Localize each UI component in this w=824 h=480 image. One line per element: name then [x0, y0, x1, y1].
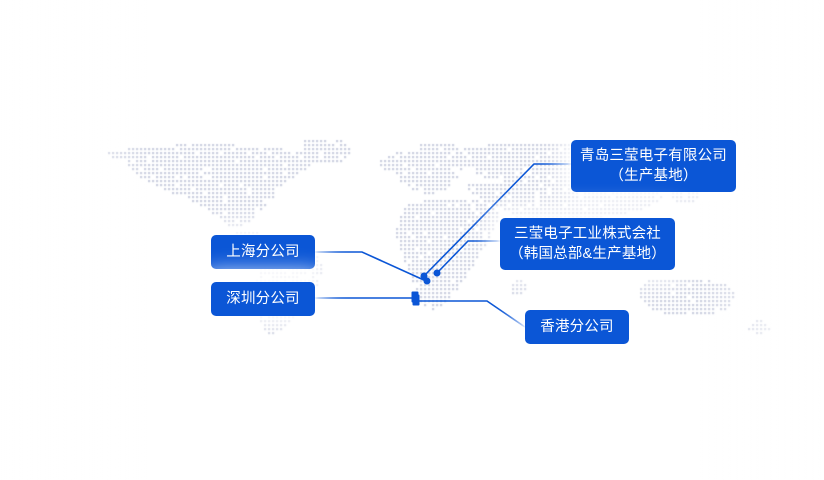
shanghai-connector	[315, 252, 426, 281]
hongkong-connector	[416, 301, 525, 327]
label-korea-line2: （韩国总部&生产基地）	[509, 244, 666, 264]
korea-connector	[437, 241, 500, 273]
connector-lines	[0, 0, 824, 480]
label-hongkong-branch[interactable]: 香港分公司	[525, 310, 629, 344]
label-shenzhen-line1: 深圳分公司	[226, 289, 300, 309]
label-shenzhen-branch[interactable]: 深圳分公司	[211, 282, 315, 316]
label-qingdao-factory[interactable]: 青岛三莹电子有限公司 （生产基地）	[571, 140, 736, 192]
hongkong-marker[interactable]	[413, 295, 420, 306]
label-hongkong-line1: 香港分公司	[540, 317, 614, 337]
label-qingdao-line2: （生产基地）	[609, 166, 697, 186]
label-korea-line1: 三莹电子工业株式会社	[514, 224, 661, 244]
korea-marker[interactable]	[434, 270, 441, 277]
shanghai-marker[interactable]	[424, 278, 431, 285]
world-map-infographic: 青岛三莹电子有限公司 （生产基地） 三莹电子工业株式会社 （韩国总部&生产基地）…	[0, 0, 824, 480]
label-shanghai-branch[interactable]: 上海分公司	[211, 235, 315, 269]
label-shanghai-line1: 上海分公司	[226, 242, 300, 262]
label-korea-headquarters[interactable]: 三莹电子工业株式会社 （韩国总部&生产基地）	[500, 218, 675, 270]
label-qingdao-line1: 青岛三莹电子有限公司	[580, 146, 727, 166]
